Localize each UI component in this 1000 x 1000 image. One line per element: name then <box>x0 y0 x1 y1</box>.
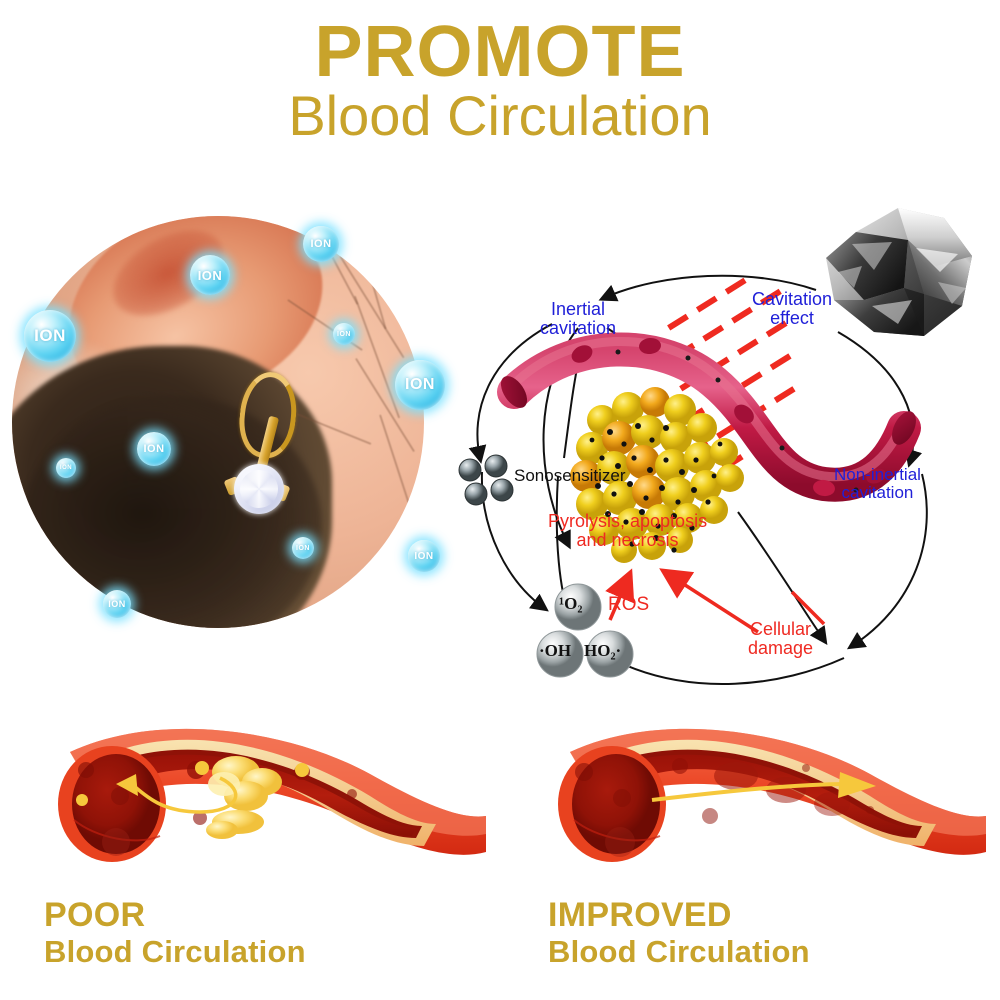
molecule-hydroperoxyl-radical: HO₂· <box>584 642 621 660</box>
germanium-mineral-stone <box>812 196 984 348</box>
ion-bubble-label: ION <box>143 443 164 455</box>
label-line: cavitation <box>842 483 914 502</box>
label-line: damage <box>748 638 813 658</box>
label-pyrolysis-apoptosis-necrosis: Pyrolysis, apoptosis and necrosis <box>548 512 707 550</box>
label-line: Cellular <box>750 619 811 639</box>
ion-bubble: ION <box>395 360 445 410</box>
ion-bubble: ION <box>24 310 76 362</box>
ion-bubble-label: ION <box>34 326 66 346</box>
label-line: Inertial <box>551 299 605 319</box>
molecule-singlet-oxygen: ¹O₂ <box>559 595 582 613</box>
ion-bubble-label: ION <box>405 376 435 394</box>
ion-bubble: ION <box>303 226 339 262</box>
label-sonosensitizer: Sonosensitizer <box>514 467 626 485</box>
ion-bubble-label: ION <box>414 551 433 562</box>
promo-graphic: PROMOTE Blood Circulation <box>0 0 1000 1000</box>
ion-bubble-label: ION <box>337 331 351 338</box>
title-sub: Blood Circulation <box>0 86 1000 146</box>
ion-bubble: ION <box>190 255 230 295</box>
ion-bubble-label: ION <box>108 599 126 609</box>
sonosensitizer-particles <box>459 455 513 505</box>
earring-gem <box>234 464 284 514</box>
ion-bubble-label: ION <box>60 465 72 471</box>
improved-circulation-label: IMPROVED Blood Circulation <box>548 896 810 970</box>
improved-title: IMPROVED <box>548 896 810 934</box>
page-title: PROMOTE Blood Circulation <box>0 14 1000 146</box>
title-main: PROMOTE <box>0 14 1000 90</box>
improved-subtitle: Blood Circulation <box>548 934 810 970</box>
label-line: Pyrolysis, apoptosis <box>548 511 707 531</box>
poor-subtitle: Blood Circulation <box>44 934 306 970</box>
ion-bubble-label: ION <box>198 268 223 283</box>
label-line: and necrosis <box>577 530 679 550</box>
label-line: Non-inertial <box>834 465 921 484</box>
poor-circulation-vessel <box>40 712 500 887</box>
ion-bubble-label: ION <box>310 238 331 250</box>
label-line: effect <box>770 308 814 328</box>
label-cellular-damage: Cellular damage <box>748 620 813 658</box>
ion-bubble: ION <box>103 590 131 618</box>
ion-bubble: ION <box>292 537 314 559</box>
ion-bubble: ION <box>137 432 171 466</box>
ion-bubble: ION <box>56 458 76 478</box>
ion-bubble-label: ION <box>296 545 310 552</box>
label-line: cavitation <box>540 318 616 338</box>
ion-bubble: ION <box>408 540 440 572</box>
label-ros: ROS <box>608 595 649 615</box>
label-non-inertial-cavitation: Non-inertial cavitation <box>834 466 921 502</box>
poor-title: POOR <box>44 896 306 934</box>
label-inertial-cavitation: Inertial cavitation <box>540 300 616 338</box>
ion-bubble: ION <box>333 323 355 345</box>
molecule-hydroxyl-radical: ·OH <box>539 642 571 660</box>
improved-circulation-vessel <box>540 712 1000 887</box>
poor-circulation-label: POOR Blood Circulation <box>44 896 306 970</box>
